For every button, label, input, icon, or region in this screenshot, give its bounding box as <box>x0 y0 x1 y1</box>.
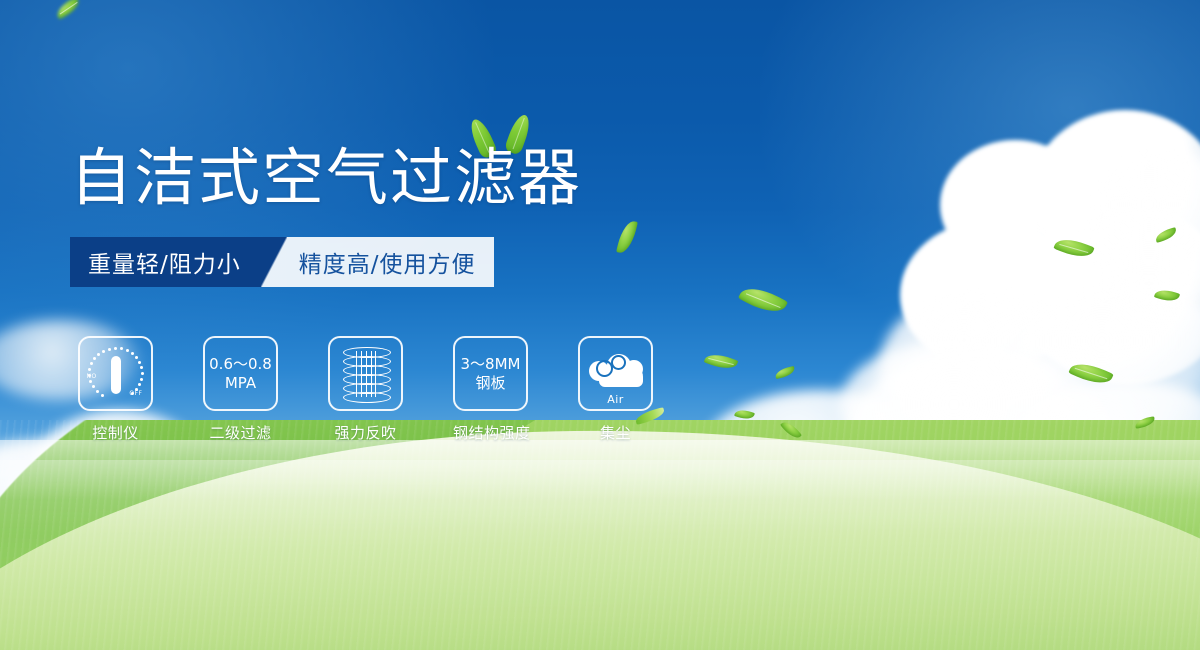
gauge-needle <box>111 356 121 394</box>
pressure-value: 0.6～0.8 <box>209 355 272 373</box>
feature-caption: 强力反吹 <box>328 422 403 443</box>
feature-tile[interactable]: 3～8MM 钢板 <box>453 336 528 411</box>
feature-item-dust-collection[interactable]: Air 集尘 <box>578 336 653 443</box>
air-label: Air <box>587 393 645 406</box>
gauge-icon: NO OFF <box>87 347 145 401</box>
feature-tile[interactable]: NO OFF <box>78 336 153 411</box>
subtitle-bar: 重量轻/阻力小 精度高/使用方便 <box>70 237 494 287</box>
feature-tile[interactable]: 0.6～0.8 MPA <box>203 336 278 411</box>
feature-item-controller[interactable]: NO OFF 控制仪 <box>78 336 153 443</box>
feature-caption: 集尘 <box>578 422 653 443</box>
gauge-label-off: OFF <box>129 390 142 397</box>
cloud-air-icon: Air <box>587 351 645 397</box>
pressure-text: 0.6～0.8 MPA <box>209 355 272 393</box>
subtitle-right: 精度高/使用方便 <box>287 237 494 287</box>
subtitle-divider <box>261 237 287 287</box>
feature-item-backflush[interactable]: 强力反吹 <box>328 336 403 443</box>
feature-caption: 钢结构强度 <box>453 422 528 443</box>
pressure-unit: MPA <box>209 374 272 393</box>
steel-text: 3～8MM 钢板 <box>461 355 521 393</box>
coil-bars <box>356 351 376 397</box>
feature-caption: 二级过滤 <box>203 422 278 443</box>
hero-banner: 自洁式空气过滤器 重量轻/阻力小 精度高/使用方便 <box>0 0 1200 650</box>
feature-item-two-stage-filter[interactable]: 0.6～0.8 MPA 二级过滤 <box>203 336 278 443</box>
sky-glow-right <box>760 0 1200 360</box>
steel-thickness: 3～8MM <box>461 355 521 373</box>
feature-tile[interactable] <box>328 336 403 411</box>
cloud-icon-leaf <box>580 332 615 359</box>
feature-caption: 控制仪 <box>78 422 153 443</box>
filter-coil-icon <box>343 347 389 401</box>
steel-material: 钢板 <box>461 374 521 393</box>
feature-tile[interactable]: Air <box>578 336 653 411</box>
feature-item-steel-strength[interactable]: 3～8MM 钢板 钢结构强度 <box>453 336 528 443</box>
gauge-label-no: NO <box>87 373 97 380</box>
meadow-ground <box>0 420 1200 650</box>
subtitle-left: 重量轻/阻力小 <box>70 237 261 287</box>
page-title: 自洁式空气过滤器 <box>70 140 582 216</box>
feature-list: NO OFF 控制仪 0.6～0.8 MPA 二级过滤 <box>78 336 653 443</box>
